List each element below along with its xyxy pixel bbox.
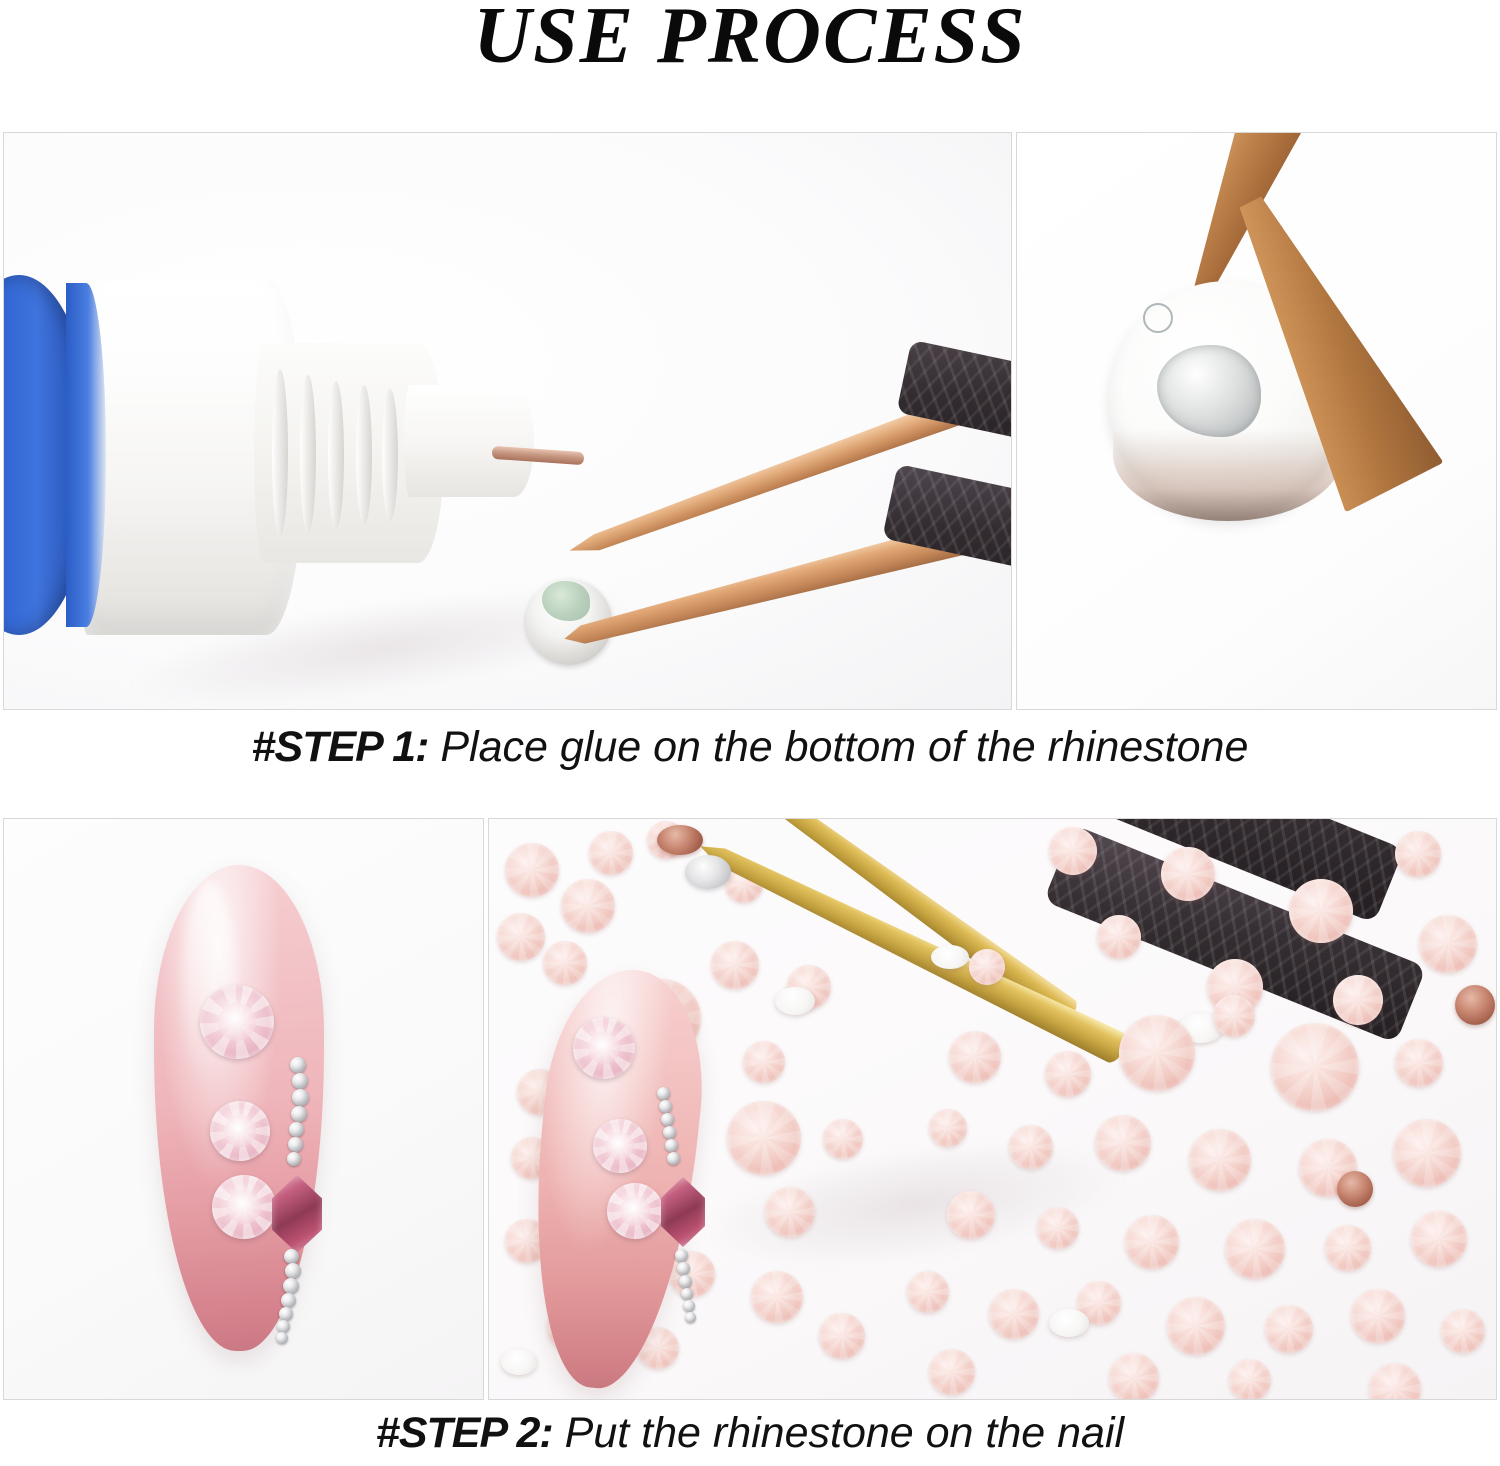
rhinestone — [1289, 879, 1353, 943]
rhinestone-flat-back — [931, 945, 969, 969]
rhinestone — [1229, 1359, 1271, 1400]
rhinestone — [543, 941, 587, 985]
caviar-bead — [276, 1332, 288, 1344]
gem-table-facet — [606, 1132, 634, 1160]
step1-label: #STEP 1: — [252, 723, 429, 771]
glue-nozzle-tip — [404, 385, 534, 497]
caption-step2: #STEP 2: Put the rhinestone on the nail — [0, 1412, 1500, 1455]
rhinestone — [947, 1191, 995, 1239]
caviar-bead — [287, 1152, 301, 1166]
rhinestone — [989, 1289, 1039, 1339]
round-rhinestone — [210, 1101, 270, 1161]
rhinestone — [561, 879, 615, 933]
rhinestone-dark — [657, 825, 703, 855]
step2-text: Put the rhinestone on the nail — [553, 1409, 1124, 1457]
step2-label: #STEP 2: — [376, 1409, 553, 1457]
rhinestone-dark — [1337, 1171, 1373, 1207]
rhinestone — [1265, 1305, 1313, 1353]
caviar-bead — [661, 1113, 674, 1126]
caviar-bead — [277, 1320, 290, 1333]
caviar-bead — [681, 1288, 693, 1300]
caviar-bead — [683, 1300, 695, 1312]
rhinestone-flat-back — [775, 987, 815, 1015]
caviar-bead — [675, 1249, 688, 1262]
rhinestone — [765, 1187, 815, 1237]
instruction-page: USE PROCESS — [0, 0, 1500, 1466]
caviar-bead — [659, 1100, 672, 1113]
rhinestone — [1225, 1219, 1285, 1279]
rhinestone — [1351, 1289, 1405, 1343]
round-rhinestone — [573, 1017, 635, 1079]
nozzle-rib — [382, 389, 398, 521]
rhinestone — [949, 1031, 1001, 1083]
glue-bottle-cap-edge — [66, 283, 106, 627]
photo-step2-placing-rhinestone — [488, 818, 1497, 1400]
rhinestone — [1395, 831, 1441, 877]
rhinestone — [1095, 1115, 1151, 1171]
round-rhinestone — [593, 1119, 647, 1173]
rhinestone — [1161, 847, 1215, 901]
caviar-bead — [663, 1126, 676, 1139]
rhinestone — [743, 1041, 785, 1083]
nozzle-rib — [300, 375, 316, 533]
round-rhinestone — [212, 1175, 276, 1239]
page-title: USE PROCESS — [0, 0, 1500, 76]
gem-table-facet — [588, 1032, 620, 1064]
rhinestone — [1333, 975, 1383, 1025]
caviar-bead — [283, 1278, 299, 1294]
caption-step1: #STEP 1: Place glue on the bottom of the… — [0, 726, 1500, 769]
rhinestone — [1045, 1051, 1091, 1097]
gem-table-facet — [227, 1190, 260, 1223]
caviar-bead — [679, 1275, 692, 1288]
round-rhinestone — [200, 985, 274, 1059]
caviar-bead — [292, 1089, 309, 1106]
rhinestone — [969, 949, 1005, 985]
rhinestone-flat-back — [501, 1349, 537, 1375]
rhinestone — [1419, 915, 1477, 973]
rhinestone — [1119, 1015, 1195, 1091]
rhinestone — [907, 1271, 949, 1313]
rhinestone — [1009, 1125, 1053, 1169]
caviar-bead — [285, 1263, 301, 1279]
round-rhinestone — [607, 1183, 663, 1239]
rhinestone — [1441, 1309, 1485, 1353]
caviar-bead — [288, 1137, 303, 1152]
rhinestone — [1037, 1207, 1079, 1249]
step1-text: Place glue on the bottom of the rhinesto… — [428, 723, 1248, 771]
caviar-bead — [667, 1152, 680, 1165]
rhinestone — [1213, 995, 1255, 1037]
caviar-bead — [289, 1122, 304, 1137]
photo-step2-decorated-nail — [3, 818, 484, 1400]
caviar-bead — [291, 1106, 307, 1122]
rhinestone — [1125, 1215, 1179, 1269]
rhinestone — [1167, 1297, 1225, 1355]
rhinestone — [727, 1101, 801, 1175]
rhinestone — [929, 1349, 975, 1395]
rhinestone — [1325, 1225, 1371, 1271]
caviar-bead — [677, 1262, 690, 1275]
rhinestone — [1189, 1129, 1251, 1191]
rhinestone-dark — [1455, 985, 1495, 1025]
caviar-bead — [685, 1312, 696, 1323]
rhinestone-flat-back — [1049, 1309, 1089, 1337]
photo-step1-glue-bottle — [3, 132, 1012, 710]
rhinestone — [929, 1109, 967, 1147]
caviar-bead — [292, 1073, 308, 1089]
gem-table-facet — [620, 1196, 649, 1225]
rhinestone — [497, 913, 545, 961]
caviar-bead — [284, 1249, 299, 1264]
nozzle-rib — [272, 369, 288, 537]
caviar-bead — [665, 1139, 678, 1152]
rhinestone — [1109, 1353, 1159, 1400]
rhinestone — [1395, 1039, 1443, 1087]
rhinestone — [1271, 1023, 1359, 1111]
rhinestone — [711, 941, 759, 989]
rhinestone — [1097, 915, 1141, 959]
gem-table-facet — [224, 1115, 255, 1146]
nozzle-rib — [356, 385, 372, 525]
rhinestone — [751, 1271, 803, 1323]
rhinestone — [589, 831, 633, 875]
caviar-bead — [281, 1293, 296, 1308]
glue-bubble — [1143, 303, 1173, 333]
caviar-bead — [290, 1057, 306, 1073]
rhinestone — [1393, 1119, 1461, 1187]
rhinestone — [823, 1119, 863, 1159]
rhinestone — [505, 843, 559, 897]
caviar-bead — [657, 1087, 670, 1100]
nozzle-rib — [328, 381, 344, 529]
rhinestone — [819, 1313, 865, 1359]
rhinestone — [1411, 1211, 1467, 1267]
rhinestone-silver — [685, 855, 731, 889]
photo-step1-rhinestone-macro — [1016, 132, 1497, 710]
rhinestone — [1049, 827, 1097, 875]
caviar-bead — [279, 1307, 293, 1321]
